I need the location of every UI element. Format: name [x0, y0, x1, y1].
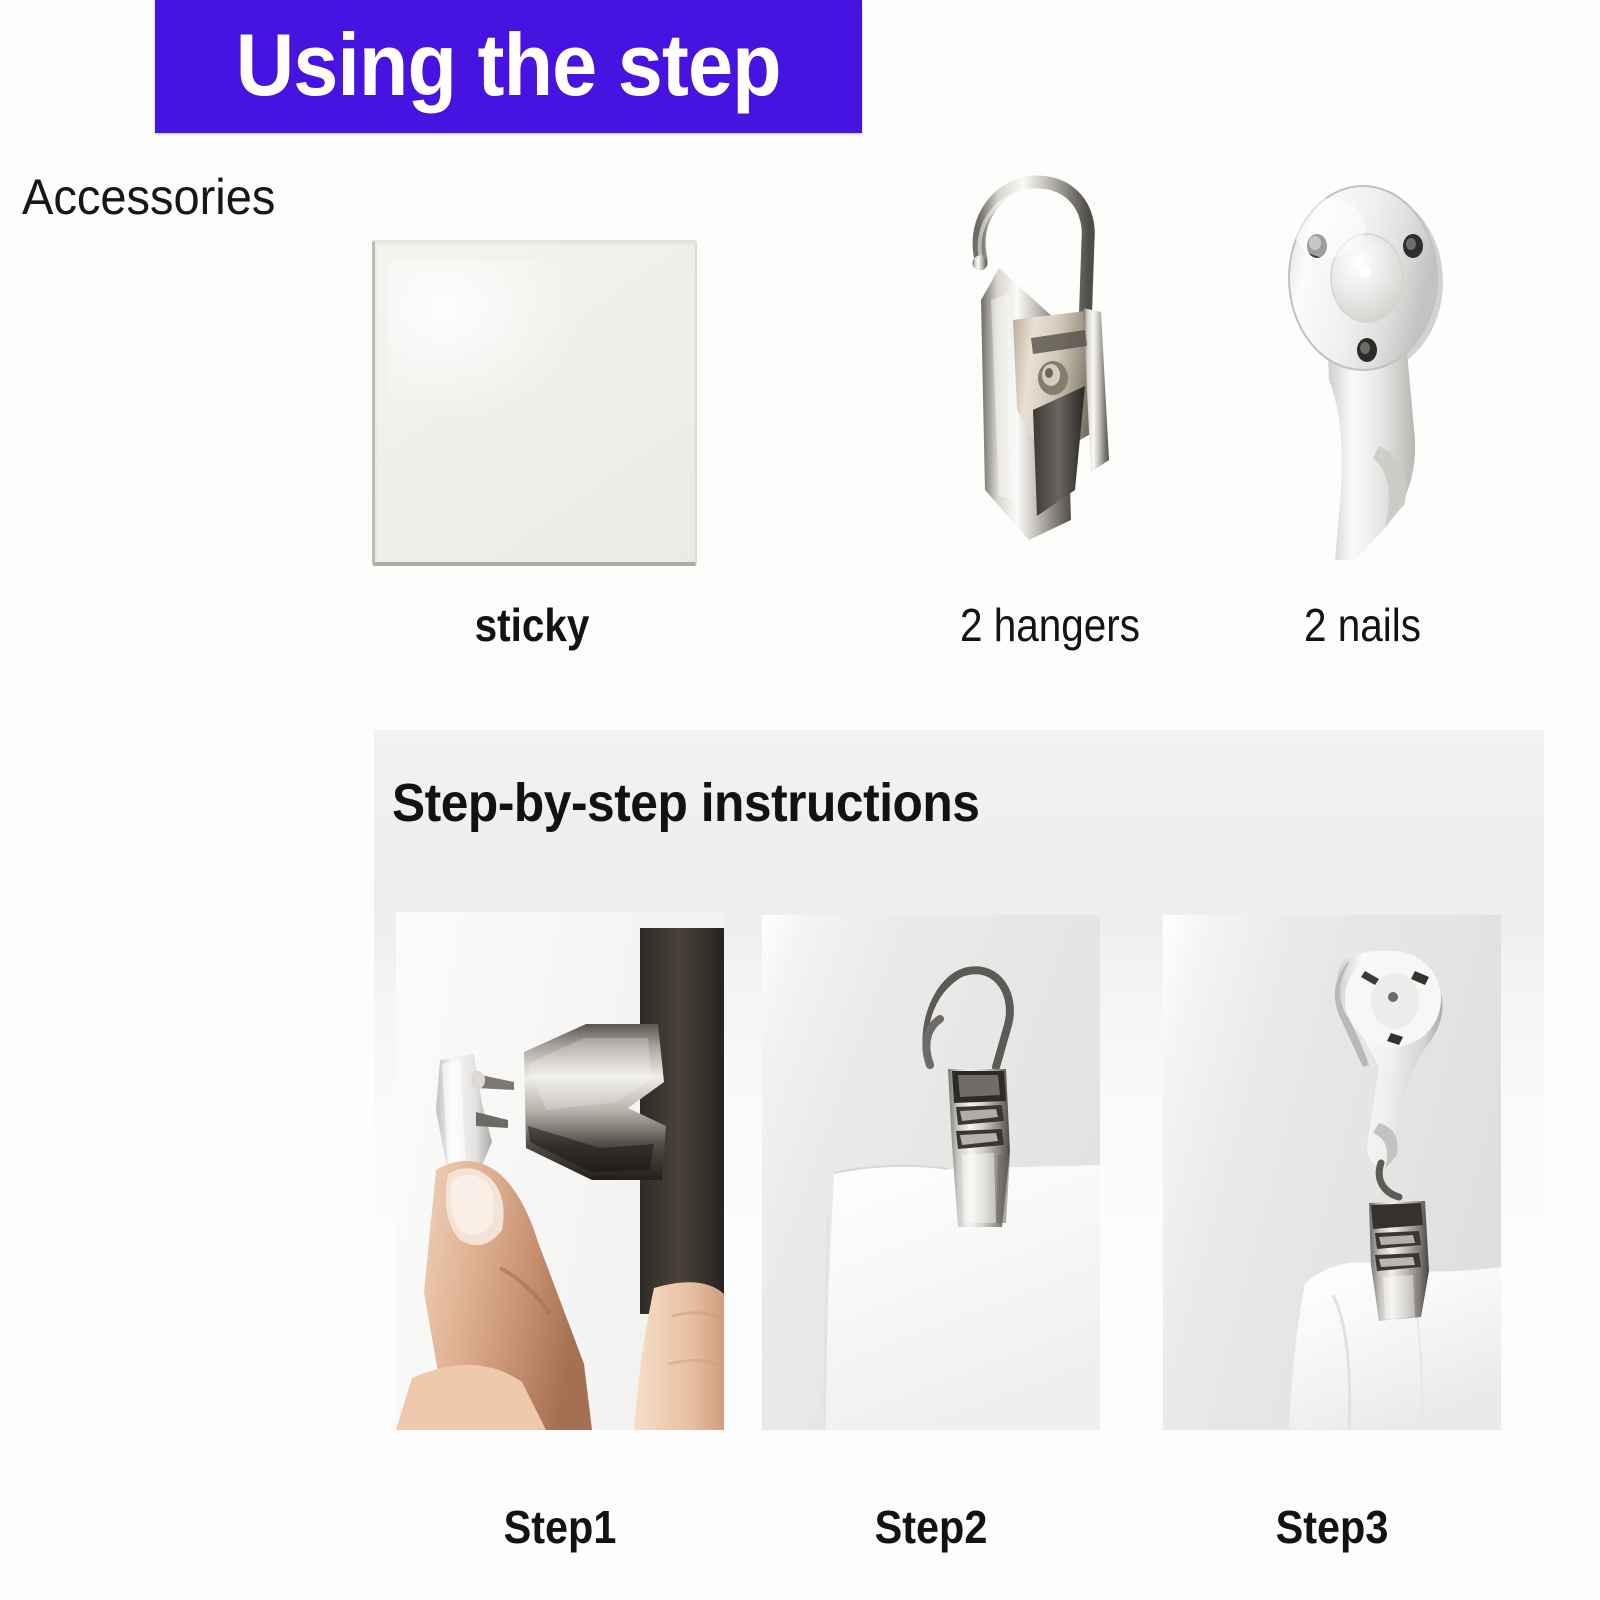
step-3-label: Step3 — [1180, 1500, 1484, 1554]
step-2-label: Step2 — [779, 1500, 1083, 1554]
step-3-photo — [1163, 915, 1501, 1430]
clip-hanger-icon — [925, 160, 1140, 560]
page-title-text: Using the step — [236, 13, 781, 115]
accessory-label-sticky: sticky — [391, 598, 673, 652]
accessories-heading: Accessories — [22, 168, 275, 226]
step-1-illustration — [396, 912, 724, 1430]
accessory-label-hangers: 2 hangers — [922, 598, 1177, 652]
accessory-label-nails: 2 nails — [1255, 598, 1471, 652]
title-banner: Using the step — [155, 0, 862, 133]
step-2-photo — [762, 915, 1100, 1430]
step-1-label: Step1 — [412, 1500, 707, 1554]
step-1-photo — [396, 912, 724, 1430]
instructions-heading: Step-by-step instructions — [392, 772, 979, 834]
step-3-illustration — [1163, 915, 1501, 1430]
adhesive-pad-icon — [372, 240, 697, 566]
step-2-illustration — [762, 915, 1100, 1430]
clip-hanger-svg — [925, 160, 1140, 560]
wall-hook-svg — [1255, 160, 1470, 560]
wall-hook-nail-icon — [1255, 160, 1470, 560]
page-title: Using the step — [155, 13, 862, 115]
